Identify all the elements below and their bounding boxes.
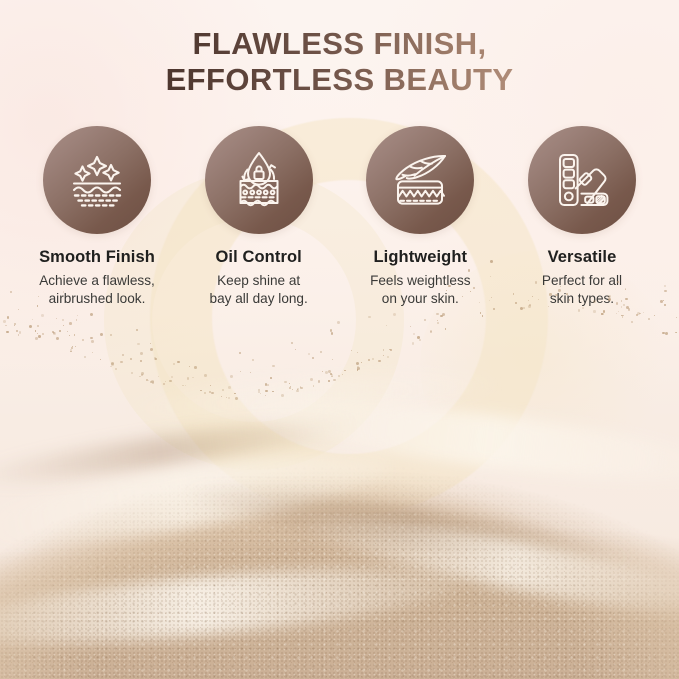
feature-item-smooth-finish: Smooth Finish Achieve a flawless, airbru… bbox=[20, 126, 174, 308]
powder-speck bbox=[623, 315, 624, 316]
feature-description: Perfect for all skin types. bbox=[542, 272, 622, 308]
powder-speck bbox=[440, 315, 443, 318]
powder-speck bbox=[169, 380, 172, 383]
powder-speck bbox=[295, 349, 296, 350]
powder-speck bbox=[289, 383, 290, 384]
powder-speck bbox=[448, 285, 451, 288]
feature-title: Oil Control bbox=[215, 248, 301, 267]
powder-speck bbox=[267, 384, 269, 386]
powder-speck bbox=[356, 362, 359, 365]
powder-speck bbox=[621, 300, 623, 302]
oil-droplet-lock-icon bbox=[228, 149, 290, 211]
powder-speck bbox=[361, 362, 362, 363]
feature-icon-badge bbox=[366, 126, 474, 234]
powder-speck bbox=[111, 363, 114, 366]
powder-speck bbox=[310, 378, 313, 381]
feature-title: Versatile bbox=[548, 248, 617, 267]
powder-speck bbox=[318, 380, 320, 382]
powder-speck bbox=[67, 331, 68, 332]
powder-speck bbox=[137, 343, 139, 345]
powder-photo bbox=[0, 319, 679, 679]
powder-speck bbox=[558, 289, 561, 292]
powder-speck bbox=[372, 358, 374, 360]
powder-speck bbox=[270, 377, 272, 379]
powder-speck bbox=[331, 332, 333, 334]
powder-speck bbox=[72, 346, 73, 347]
title-line-2: EFFORTLESS BEAUTY bbox=[0, 64, 679, 97]
powder-speck bbox=[59, 330, 61, 332]
feature-title: Lightweight bbox=[373, 248, 467, 267]
powder-speck bbox=[210, 385, 211, 386]
powder-speck bbox=[393, 313, 396, 316]
page-title: FLAWLESS FINISH, EFFORTLESS BEAUTY bbox=[0, 28, 679, 96]
powder-speck bbox=[265, 383, 267, 385]
powder-speck bbox=[74, 334, 76, 336]
powder-speck bbox=[412, 342, 415, 345]
powder-speck bbox=[446, 290, 447, 291]
powder-speck bbox=[378, 360, 380, 362]
powder-speck bbox=[342, 374, 343, 375]
feature-icon-badge bbox=[43, 126, 151, 234]
feather-skin-icon bbox=[389, 149, 451, 211]
powder-speck bbox=[91, 340, 94, 343]
banner-stage: FLAWLESS FINISH, EFFORTLESS BEAUTY bbox=[0, 0, 679, 679]
powder-speck bbox=[272, 365, 275, 368]
powder-speck bbox=[35, 330, 36, 331]
powder-speck bbox=[165, 381, 166, 382]
powder-speck bbox=[593, 310, 595, 312]
powder-speck bbox=[211, 392, 213, 394]
powder-grain-coarse bbox=[0, 319, 679, 679]
feature-icon-badge bbox=[528, 126, 636, 234]
powder-speck bbox=[325, 371, 328, 374]
powder-speck bbox=[122, 354, 125, 357]
feature-list: Smooth Finish Achieve a flawless, airbru… bbox=[0, 126, 679, 308]
feature-description: Keep shine at bay all day long. bbox=[210, 272, 308, 308]
powder-speck bbox=[154, 357, 156, 359]
powder-speck bbox=[250, 372, 251, 373]
powder-speck bbox=[470, 291, 471, 292]
feature-description: Feels weightless on your skin. bbox=[370, 272, 471, 308]
feature-item-oil-control: Oil Control Keep shine at bay all day lo… bbox=[182, 126, 336, 308]
powder-speck bbox=[337, 321, 340, 324]
powder-speck bbox=[56, 318, 57, 319]
powder-speck bbox=[146, 379, 148, 381]
powder-speck bbox=[63, 325, 64, 326]
powder-speck bbox=[158, 376, 159, 377]
powder-speck bbox=[419, 339, 421, 341]
powder-speck bbox=[523, 307, 525, 309]
powder-speck bbox=[228, 386, 231, 389]
powder-speck bbox=[235, 397, 238, 400]
powder-speck bbox=[19, 331, 22, 334]
powder-speck bbox=[313, 385, 315, 387]
feature-title: Smooth Finish bbox=[39, 248, 155, 267]
powder-speck bbox=[549, 293, 552, 296]
powder-speck bbox=[490, 276, 491, 277]
powder-speck bbox=[38, 335, 41, 338]
powder-speck bbox=[115, 368, 117, 370]
feature-description: Achieve a flawless, airbrushed look. bbox=[39, 272, 155, 308]
powder-speck bbox=[222, 389, 224, 391]
powder-speck bbox=[291, 342, 293, 344]
powder-speck bbox=[200, 390, 201, 391]
powder-speck bbox=[189, 366, 190, 367]
powder-speck bbox=[265, 390, 268, 393]
powder-speck bbox=[230, 375, 233, 378]
powder-speck bbox=[41, 314, 44, 317]
title-line-1: FLAWLESS FINISH, bbox=[0, 28, 679, 61]
powder-speck bbox=[410, 326, 411, 327]
powder-speck bbox=[258, 391, 260, 393]
powder-speck bbox=[532, 296, 533, 297]
powder-speck bbox=[5, 325, 7, 327]
powder-speck bbox=[151, 380, 154, 383]
powder-speck bbox=[643, 312, 644, 313]
powder-speck bbox=[436, 313, 439, 316]
powder-speck bbox=[513, 293, 515, 295]
powder-speck bbox=[648, 318, 650, 320]
powder-speck bbox=[625, 298, 627, 300]
powder-speck bbox=[623, 304, 625, 306]
powder-speck bbox=[240, 371, 241, 372]
powder-speck bbox=[332, 359, 333, 360]
powder-speck bbox=[480, 312, 482, 314]
powder-speck bbox=[10, 291, 12, 293]
powder-speck bbox=[100, 359, 101, 360]
powder-speck bbox=[289, 387, 291, 389]
powder-speck bbox=[29, 325, 32, 328]
sparkle-skin-icon bbox=[66, 149, 128, 211]
powder-speck bbox=[76, 319, 77, 320]
feature-item-versatile: Versatile Perfect for all skin types. bbox=[505, 126, 659, 308]
powder-speck bbox=[150, 343, 151, 344]
powder-speck bbox=[100, 333, 103, 336]
powder-speck bbox=[482, 315, 484, 317]
powder-speck bbox=[561, 277, 562, 278]
powder-speck bbox=[608, 298, 611, 301]
powder-speck bbox=[141, 374, 144, 377]
powder-speck bbox=[357, 352, 359, 354]
powder-speck bbox=[194, 366, 197, 369]
powder-speck bbox=[618, 311, 619, 312]
powder-speck bbox=[69, 322, 72, 325]
powder-speck bbox=[281, 394, 284, 397]
powder-speck bbox=[3, 320, 6, 323]
powder-speck bbox=[608, 295, 611, 298]
color-swatch-fan-icon bbox=[551, 149, 613, 211]
powder-speck bbox=[320, 351, 323, 354]
powder-speck bbox=[663, 300, 664, 301]
feature-icon-badge bbox=[205, 126, 313, 234]
powder-speck bbox=[603, 310, 605, 312]
feature-item-lightweight: Lightweight Feels weightless on your ski… bbox=[343, 126, 497, 308]
powder-speck bbox=[37, 333, 38, 334]
powder-speck bbox=[555, 294, 558, 297]
powder-speck bbox=[566, 293, 568, 295]
